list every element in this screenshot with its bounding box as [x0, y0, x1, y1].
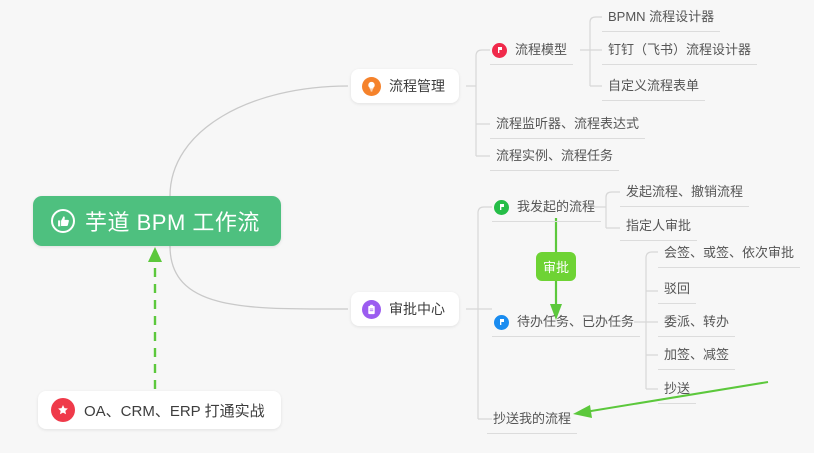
approve-tag[interactable]: 审批 — [536, 252, 576, 281]
node-listener-expression[interactable]: 流程监听器、流程表达式 — [490, 114, 645, 139]
node-todo-done-tasks[interactable]: 待办任务、已办任务 — [492, 312, 640, 337]
clipboard-icon — [362, 300, 381, 319]
branch-process-management-label: 流程管理 — [389, 76, 445, 96]
wire-process-management-bracket — [466, 50, 490, 156]
node-my-initiated-label: 我发起的流程 — [517, 197, 595, 217]
lightbulb-icon — [362, 77, 381, 96]
wire-approval-center-bracket — [466, 207, 492, 419]
node-todo-done-tasks-label: 待办任务、已办任务 — [517, 312, 634, 332]
node-instance-task[interactable]: 流程实例、流程任务 — [490, 146, 619, 171]
node-delegate-transfer[interactable]: 委派、转办 — [658, 312, 735, 337]
branch-process-management[interactable]: 流程管理 — [351, 69, 459, 103]
callout-label: OA、CRM、ERP 打通实战 — [84, 400, 265, 421]
root-label: 芋道 BPM 工作流 — [85, 205, 260, 237]
flag-red-icon — [492, 43, 507, 58]
node-cc-to-me[interactable]: 抄送我的流程 — [487, 409, 577, 434]
mindmap-canvas: 芋道 BPM 工作流 OA、CRM、ERP 打通实战 流程管理 流程模型 — [0, 0, 814, 453]
node-dingtalk-designer[interactable]: 钉钉（飞书）流程设计器 — [602, 40, 757, 65]
branch-approval-center-label: 审批中心 — [389, 299, 445, 319]
node-process-model-label: 流程模型 — [515, 40, 567, 60]
node-assignee-approval[interactable]: 指定人审批 — [620, 216, 697, 241]
wire-process-model-bracket — [580, 17, 602, 86]
node-cc[interactable]: 抄送 — [658, 379, 696, 404]
node-my-initiated[interactable]: 我发起的流程 — [492, 197, 601, 222]
flag-blue-icon — [494, 315, 509, 330]
flag-green-icon — [494, 200, 509, 215]
branch-approval-center[interactable]: 审批中心 — [351, 292, 459, 326]
node-custom-form[interactable]: 自定义流程表单 — [602, 76, 705, 101]
node-add-remove-sign[interactable]: 加签、减签 — [658, 345, 735, 370]
root-node[interactable]: 芋道 BPM 工作流 — [33, 196, 281, 246]
wire-root-to-process-management — [170, 86, 348, 196]
star-icon — [51, 398, 75, 422]
node-process-model[interactable]: 流程模型 — [490, 40, 573, 65]
wire-root-to-approval-center — [170, 246, 348, 309]
node-bpmn-designer[interactable]: BPMN 流程设计器 — [602, 7, 720, 32]
callout-to-root-arrow — [148, 247, 162, 389]
node-countersign[interactable]: 会签、或签、依次审批 — [658, 243, 800, 268]
thumbs-up-icon — [51, 209, 75, 233]
node-reject[interactable]: 驳回 — [658, 279, 696, 304]
node-start-cancel[interactable]: 发起流程、撤销流程 — [620, 182, 749, 207]
callout-card[interactable]: OA、CRM、ERP 打通实战 — [38, 391, 281, 429]
